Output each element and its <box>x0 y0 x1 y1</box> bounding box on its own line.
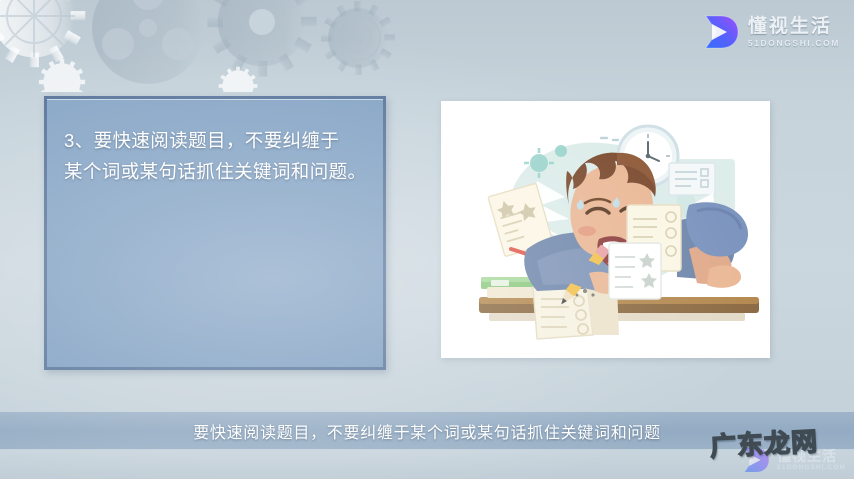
ghost-watermark-domain: 51DONGSHI.COM <box>777 465 846 472</box>
brand-name-cn: 懂视生活 <box>748 17 840 36</box>
slide-text-body: 3、要快速阅读题目，不要纠缠于 某个词或某句话抓住关键词和问题。 <box>47 99 383 187</box>
brand-logo: 懂视生活 51DONGSHI.COM <box>701 12 840 52</box>
slide-text-line-2: 某个词或某句话抓住关键词和问题。 <box>64 156 366 187</box>
slide-text-line-1: 3、要快速阅读题目，不要纠缠于 <box>64 125 366 156</box>
brand-logo-text: 懂视生活 51DONGSHI.COM <box>748 17 840 48</box>
brand-domain: 51DONGSHI.COM <box>748 39 840 48</box>
site-watermark: 广东龙网 <box>709 421 819 464</box>
gear-decoration-band <box>0 0 470 92</box>
51dongshi-d-play-logo-icon <box>701 12 741 52</box>
illustration-panel <box>441 101 770 358</box>
stressed-student-studying-illustration <box>441 101 770 358</box>
gears-icon <box>0 0 470 92</box>
slide-text-card: 3、要快速阅读题目，不要纠缠于 某个词或某句话抓住关键词和问题。 <box>44 96 386 370</box>
slide-canvas: 懂视生活 51DONGSHI.COM 3、要快速阅读题目，不要纠缠于 某个词或某… <box>0 0 854 479</box>
